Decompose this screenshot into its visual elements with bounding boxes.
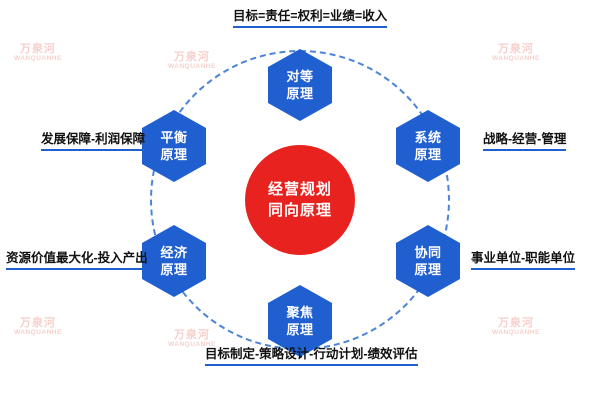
watermark-top-center: 万泉河 WANQUANHE — [168, 52, 216, 72]
node-label-line2: 原理 — [160, 261, 187, 278]
center-core: 经营规划 同向原理 — [245, 145, 355, 255]
node-label-line2: 原理 — [414, 146, 441, 163]
node-label-line1: 平衡 — [160, 129, 187, 146]
watermark-text: 万泉河 — [168, 330, 216, 340]
watermark-text: 万泉河 — [14, 44, 62, 54]
label-right-upper: 战略-经营-管理 — [483, 131, 566, 151]
watermark-subtext: WANQUANHE — [168, 62, 216, 72]
node-label-line2: 原理 — [286, 85, 313, 102]
watermark-text: 万泉河 — [492, 318, 540, 328]
watermark-top-right: 万泉河 WANQUANHE — [492, 44, 540, 64]
center-title-line1: 经营规划 — [268, 179, 332, 200]
label-left-lower: 资源价值最大化-投入产出 — [6, 250, 148, 270]
node-label-line1: 对等 — [286, 68, 313, 85]
node-label-line2: 原理 — [286, 321, 313, 338]
node-label-line1: 系统 — [414, 129, 441, 146]
watermark-text: 万泉河 — [14, 318, 62, 328]
watermark-top-left: 万泉河 WANQUANHE — [14, 44, 62, 64]
watermark-subtext: WANQUANHE — [14, 328, 62, 338]
watermark-text: 万泉河 — [168, 52, 216, 62]
label-bottom: 目标制定-策略设计-行动计划-绩效评估 — [205, 346, 418, 366]
watermark-bottom-right: 万泉河 WANQUANHE — [492, 318, 540, 338]
node-label-line1: 协同 — [414, 244, 441, 261]
node-label-line2: 原理 — [414, 261, 441, 278]
diagram-canvas: 万泉河 WANQUANHE 万泉河 WANQUANHE 万泉河 WANQUANH… — [0, 0, 600, 400]
watermark-subtext: WANQUANHE — [14, 54, 62, 64]
label-left-upper: 发展保障-利润保障 — [41, 131, 145, 151]
label-top: 目标=责任=权利=业绩=收入 — [233, 8, 387, 28]
watermark-subtext: WANQUANHE — [492, 328, 540, 338]
watermark-text: 万泉河 — [492, 44, 540, 54]
watermark-subtext: WANQUANHE — [492, 54, 540, 64]
watermark-bottom-left: 万泉河 WANQUANHE — [14, 318, 62, 338]
node-label-line1: 经济 — [160, 244, 187, 261]
node-label-line2: 原理 — [160, 146, 187, 163]
label-right-lower: 事业单位-职能单位 — [471, 250, 575, 270]
center-title-line2: 同向原理 — [268, 200, 332, 221]
node-label-line1: 聚焦 — [286, 304, 313, 321]
